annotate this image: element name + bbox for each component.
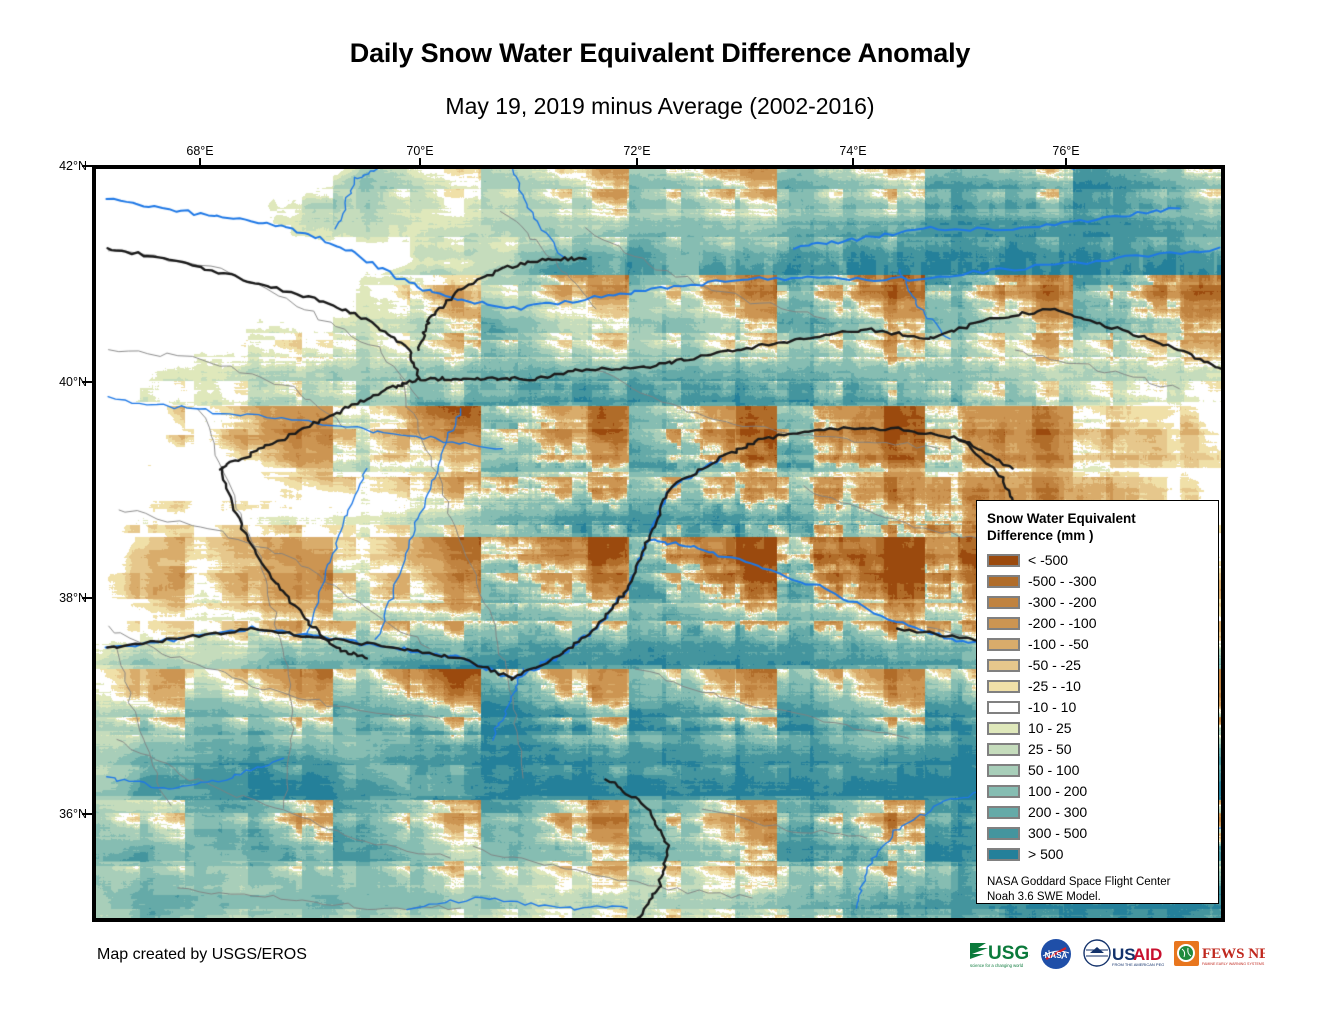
agency-logo-strip: USGS science for a changing world NASA U… (968, 934, 1265, 974)
svg-text:FEWS NET: FEWS NET (1202, 946, 1265, 962)
legend-row: -300 - -200 (987, 592, 1218, 613)
legend-label: -50 - -25 (1028, 657, 1081, 673)
legend-swatch (987, 722, 1020, 735)
legend-swatch (987, 680, 1020, 693)
legend-row: < -500 (987, 550, 1218, 571)
page-title: Daily Snow Water Equivalent Difference A… (0, 38, 1320, 69)
legend-source: NASA Goddard Space Flight Center Noah 3.… (987, 875, 1202, 906)
legend-label: -100 - -50 (1028, 636, 1089, 652)
legend-swatch (987, 596, 1020, 609)
nasa-logo: NASA (1039, 936, 1073, 972)
legend-swatch (987, 827, 1020, 840)
legend-swatch (987, 659, 1020, 672)
legend-label: -25 - -10 (1028, 678, 1081, 694)
legend-swatch (987, 554, 1020, 567)
legend-class-list: < -500-500 - -300-300 - -200-200 - -100-… (987, 550, 1218, 865)
legend-swatch (987, 575, 1020, 588)
usaid-logo: US AID FROM THE AMERICAN PEOPLE (1082, 936, 1164, 972)
legend-swatch (987, 848, 1020, 861)
legend-row: 25 - 50 (987, 739, 1218, 760)
lon-label: 76°E (1052, 144, 1079, 158)
lon-label: 72°E (623, 144, 650, 158)
legend-swatch (987, 617, 1020, 630)
legend-swatch (987, 638, 1020, 651)
legend-row: 50 - 100 (987, 760, 1218, 781)
legend-swatch (987, 806, 1020, 819)
legend-panel: Snow Water Equivalent Difference (mm ) <… (976, 500, 1219, 904)
legend-title: Snow Water Equivalent Difference (mm ) (987, 511, 1177, 545)
legend-row: 200 - 300 (987, 802, 1218, 823)
legend-swatch (987, 764, 1020, 777)
legend-row: 10 - 25 (987, 718, 1218, 739)
svg-text:FAMINE EARLY WARNING SYSTEMS N: FAMINE EARLY WARNING SYSTEMS NETWORK (1202, 962, 1265, 966)
usgs-logo: USGS science for a changing world (968, 936, 1030, 972)
svg-text:NASA: NASA (1045, 951, 1068, 960)
lon-label: 74°E (839, 144, 866, 158)
legend-label: > 500 (1028, 846, 1063, 862)
legend-label: -200 - -100 (1028, 615, 1096, 631)
legend-source-line2: Noah 3.6 SWE Model. (987, 890, 1202, 906)
legend-label: 50 - 100 (1028, 762, 1079, 778)
legend-swatch (987, 785, 1020, 798)
legend-label: 10 - 25 (1028, 720, 1072, 736)
legend-row: -100 - -50 (987, 634, 1218, 655)
svg-text:USGS: USGS (988, 943, 1030, 964)
legend-label: -300 - -200 (1028, 594, 1096, 610)
legend-label: 100 - 200 (1028, 783, 1087, 799)
lon-label: 68°E (186, 144, 213, 158)
legend-label: -500 - -300 (1028, 573, 1096, 589)
legend-row: -500 - -300 (987, 571, 1218, 592)
legend-label: -10 - 10 (1028, 699, 1076, 715)
legend-label: 300 - 500 (1028, 825, 1087, 841)
legend-row: -25 - -10 (987, 676, 1218, 697)
legend-row: 300 - 500 (987, 823, 1218, 844)
legend-label: < -500 (1028, 552, 1068, 568)
legend-source-line1: NASA Goddard Space Flight Center (987, 875, 1202, 891)
legend-row: -10 - 10 (987, 697, 1218, 718)
legend-row: -50 - -25 (987, 655, 1218, 676)
page-subtitle: May 19, 2019 minus Average (2002-2016) (0, 93, 1320, 120)
legend-row: 100 - 200 (987, 781, 1218, 802)
svg-text:FROM THE AMERICAN PEOPLE: FROM THE AMERICAN PEOPLE (1112, 962, 1164, 967)
legend-row: -200 - -100 (987, 613, 1218, 634)
legend-swatch (987, 743, 1020, 756)
map-credit: Map created by USGS/EROS (97, 946, 307, 964)
legend-label: 200 - 300 (1028, 804, 1087, 820)
legend-swatch (987, 701, 1020, 714)
legend-title-line2: Difference (mm ) (987, 528, 1177, 545)
legend-label: 25 - 50 (1028, 741, 1072, 757)
legend-row: > 500 (987, 844, 1218, 865)
fewsnet-logo: FEWS NET FAMINE EARLY WARNING SYSTEMS NE… (1173, 936, 1265, 972)
lon-label: 70°E (406, 144, 433, 158)
svg-text:science for a changing world: science for a changing world (970, 963, 1024, 968)
legend-title-line1: Snow Water Equivalent (987, 511, 1177, 528)
